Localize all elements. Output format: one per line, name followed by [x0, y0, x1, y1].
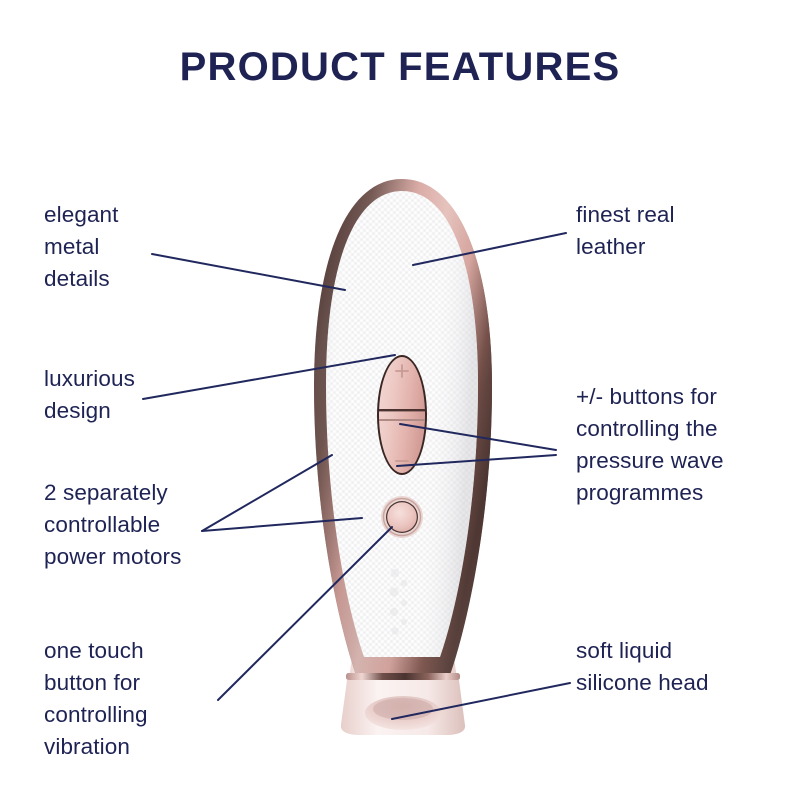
- feature-label-elegant-metal-details: elegant metal details: [44, 199, 234, 295]
- head-inner-opening: [373, 698, 433, 720]
- product-illustration: [300, 175, 505, 735]
- page-title: PRODUCT FEATURES: [0, 46, 800, 88]
- feature-label-pressure-wave-buttons: +/- buttons for controlling the pressure…: [576, 381, 791, 509]
- power-button[interactable]: [381, 496, 423, 538]
- feature-label-silicone-head: soft liquid silicone head: [576, 635, 791, 699]
- metal-band: [346, 673, 460, 680]
- silicone-head: [341, 673, 465, 735]
- feature-label-power-motors: 2 separately controllable power motors: [44, 477, 259, 573]
- feature-label-luxurious-design: luxurious design: [44, 363, 234, 427]
- plus-minus-button[interactable]: [377, 355, 427, 475]
- button-divider-highlight: [379, 419, 425, 421]
- button-divider: [379, 409, 425, 411]
- feature-label-finest-leather: finest real leather: [576, 199, 791, 263]
- product-features-infographic: PRODUCT FEATURES: [0, 0, 800, 800]
- feature-label-one-touch-button: one touch button for controlling vibrati…: [44, 635, 234, 763]
